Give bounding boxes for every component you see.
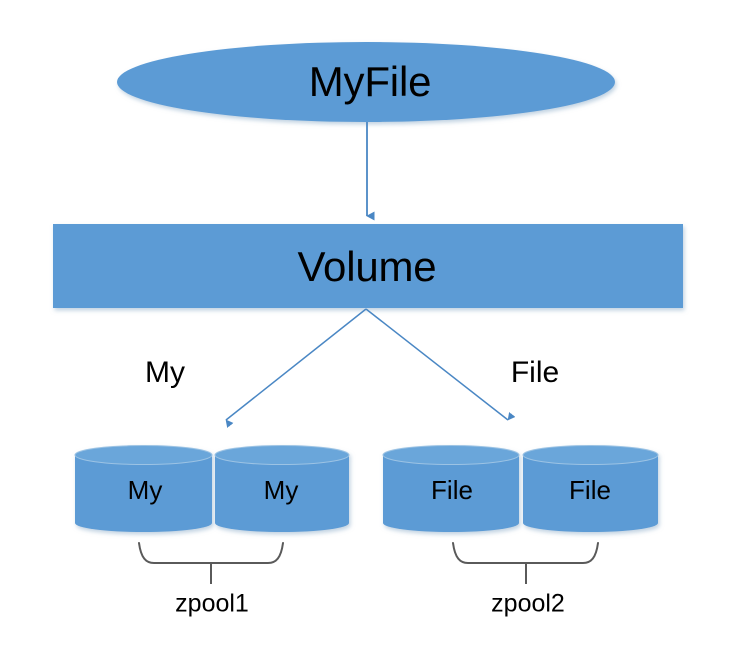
node-myfile-label: MyFile <box>309 61 431 103</box>
brace-zpool1-arms <box>139 543 283 563</box>
cylinder-3-label: File <box>431 477 473 503</box>
diagram-canvas: MyFile Volume My File My My File File zp… <box>0 0 749 648</box>
cylinder-1-label: My <box>128 477 163 503</box>
connector-volume-to-zpool1 <box>226 309 366 420</box>
cylinder-2-label: My <box>264 477 299 503</box>
cylinder-3-top <box>383 446 519 465</box>
arrow-volume-zpool1 <box>226 309 366 420</box>
branch-label-my: My <box>145 358 185 388</box>
cylinder-2-top <box>215 446 349 465</box>
branch-label-file: File <box>511 358 559 388</box>
cylinder-1-top <box>75 446 212 465</box>
cylinder-4-label: File <box>569 477 611 503</box>
pool-label-zpool1: zpool1 <box>175 592 249 617</box>
brace-zpool1-stem <box>204 563 218 584</box>
brace-zpool1 <box>139 543 283 584</box>
brace-zpool2 <box>453 543 598 584</box>
pool-label-zpool2: zpool2 <box>491 592 565 617</box>
connector-volume-to-zpool2 <box>366 309 508 420</box>
brace-zpool2-arms <box>453 543 598 563</box>
brace-zpool2-stem <box>519 563 533 584</box>
arrow-volume-zpool2 <box>366 309 508 420</box>
node-volume-label: Volume <box>298 246 437 288</box>
cylinder-4-top <box>523 446 658 465</box>
